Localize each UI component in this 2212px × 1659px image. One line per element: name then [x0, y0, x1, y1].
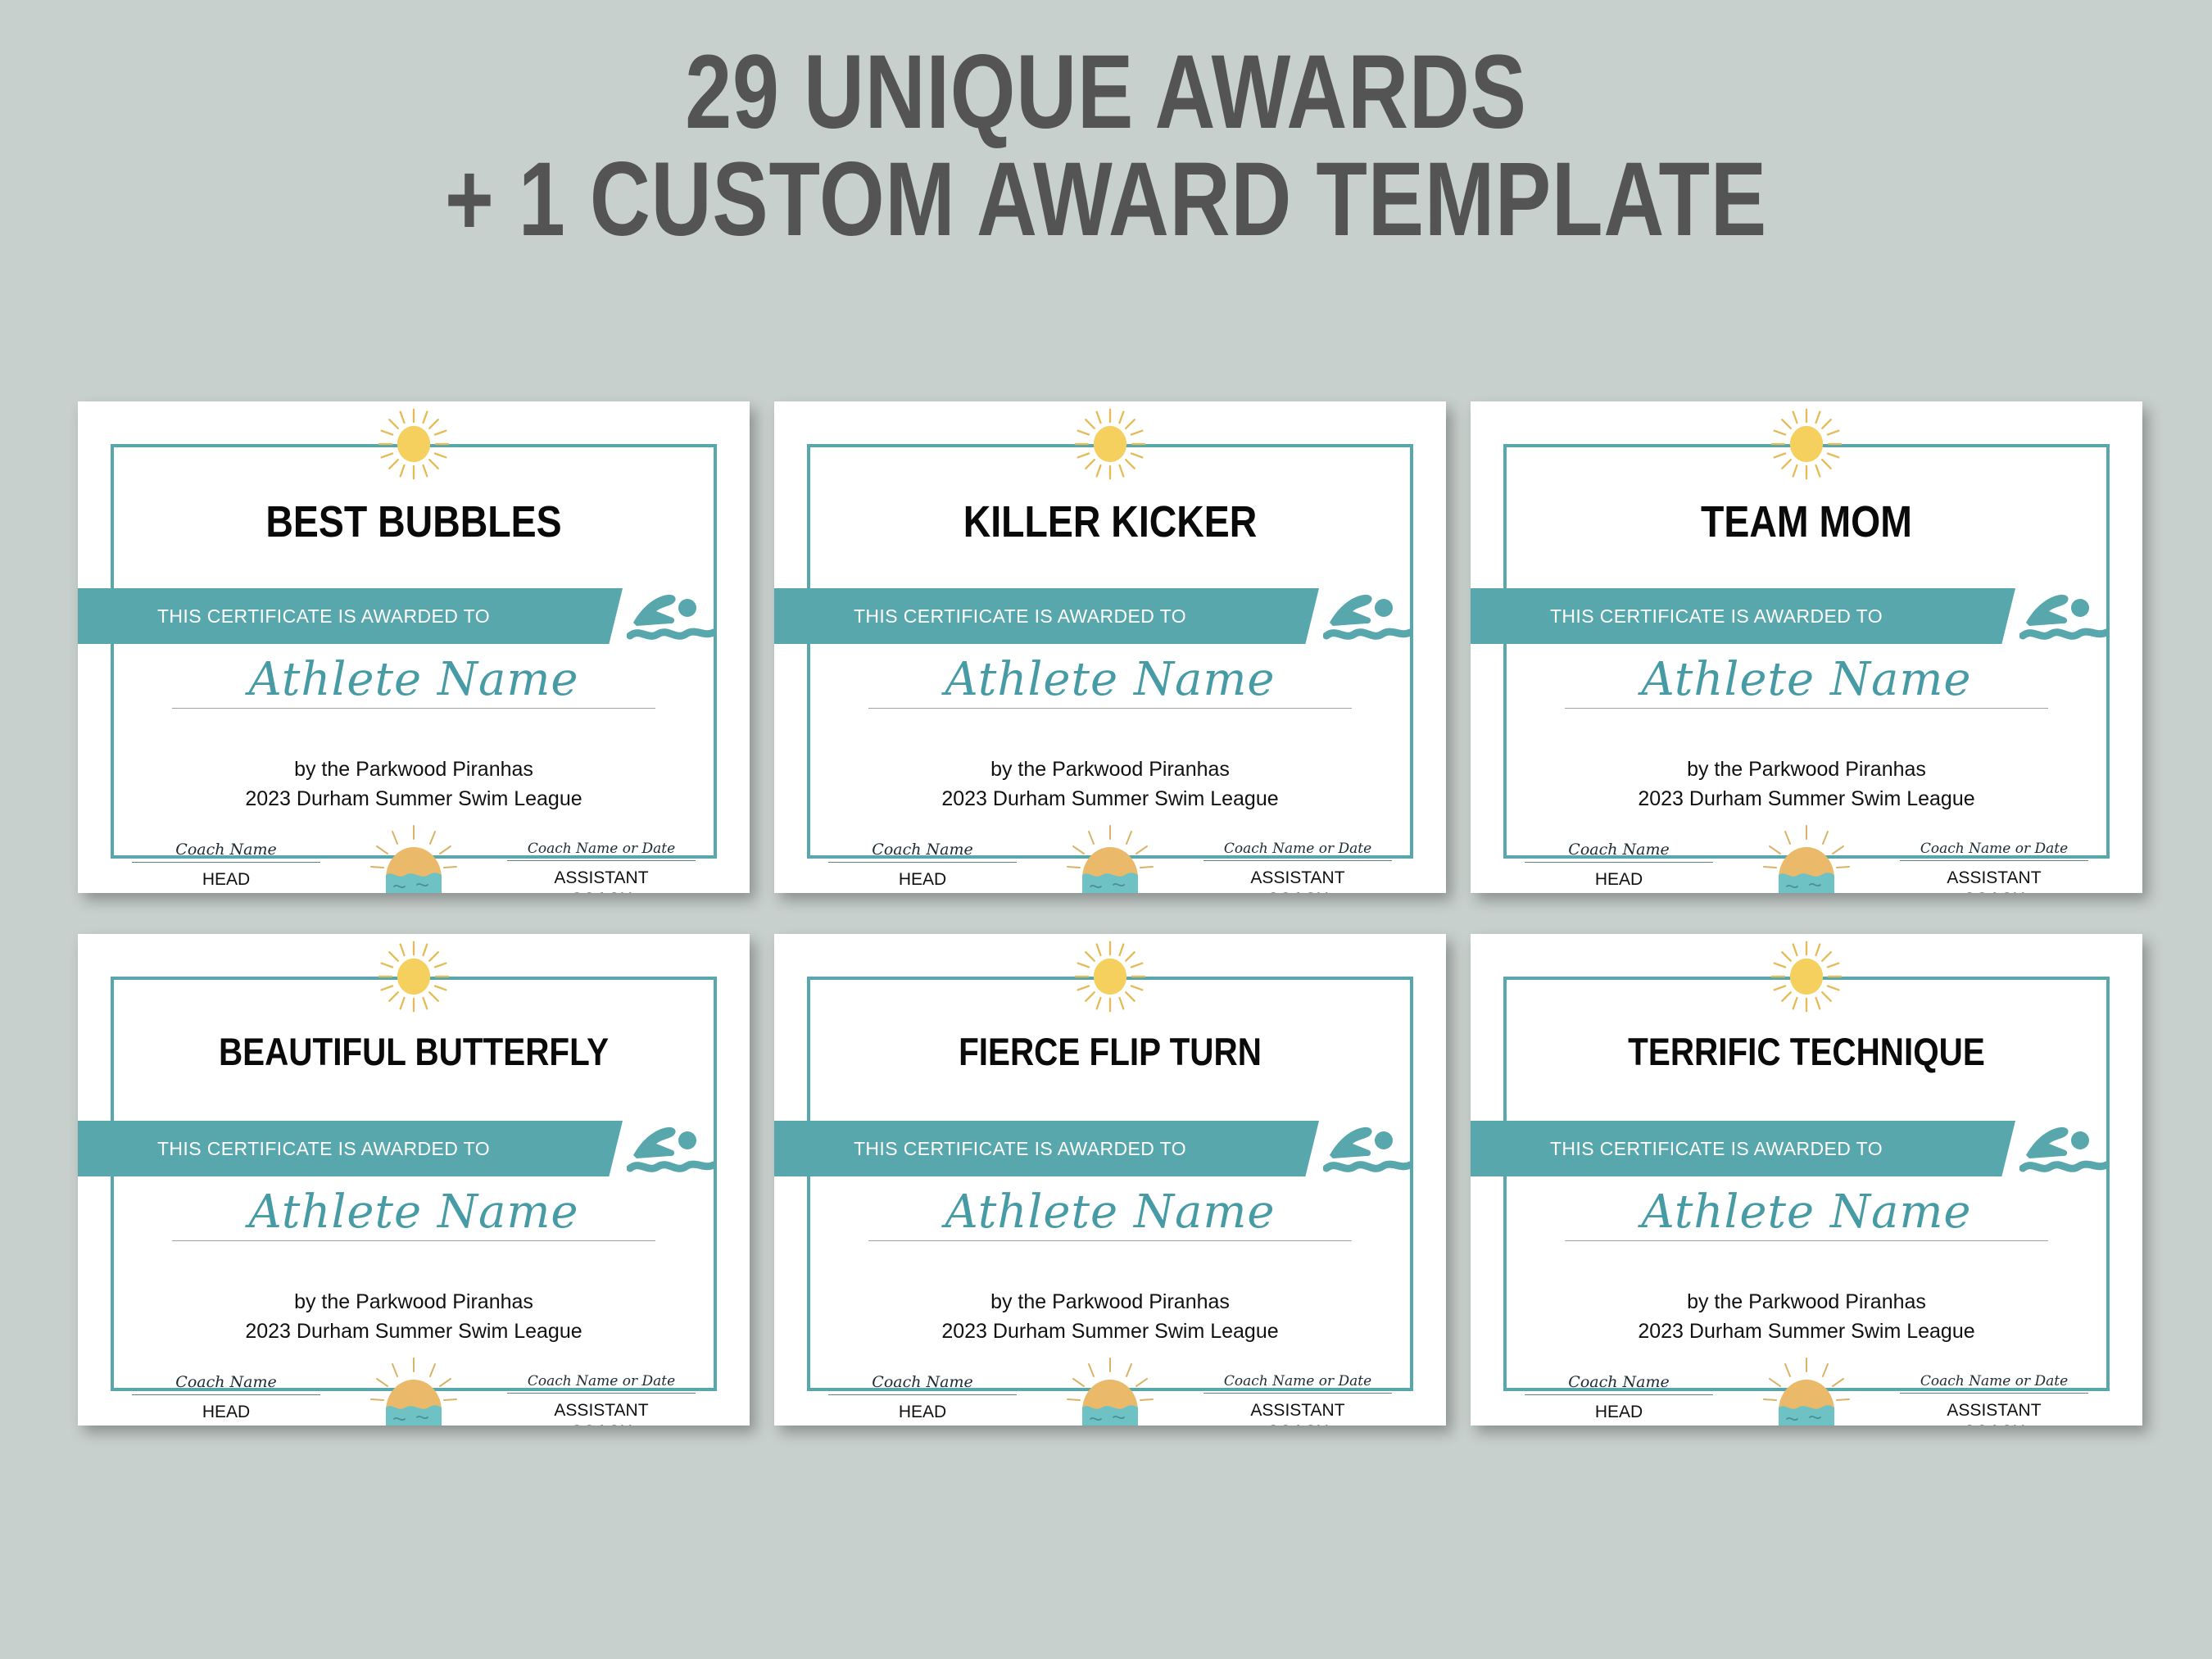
certificate-card-6[interactable]: TERRIFIC TECHNIQUE THIS CERTIFICATE IS A…	[1471, 934, 2142, 1426]
assistant-coach-signature[interactable]: Coach Name or Date ASSISTANT COACH	[1900, 1368, 2088, 1426]
assistant-coach-rule	[1203, 1393, 1392, 1394]
assistant-coach-signature[interactable]: Coach Name or Date ASSISTANT COACH	[1203, 1368, 1392, 1426]
head-coach-script-label: Coach Name	[1525, 1375, 1713, 1394]
swimmer-icon	[627, 1119, 717, 1181]
head-coach-role-line-1: HEAD	[828, 1402, 1017, 1423]
signature-area: Coach Name HEAD COACH	[132, 836, 696, 893]
sun-water-logo-icon	[1064, 1357, 1156, 1426]
headline-line-2: + 1 CUSTOM AWARD TEMPLATE	[221, 147, 1991, 254]
athlete-name-text: Athlete Name	[1565, 1190, 2048, 1240]
swimmer-icon	[2019, 587, 2110, 649]
sun-icon	[374, 937, 453, 1016]
assistant-coach-rule	[507, 860, 696, 861]
head-coach-rule	[828, 862, 1017, 863]
athlete-name-rule	[868, 708, 1352, 709]
signature-area: Coach Name HEAD COACH	[1525, 836, 2088, 893]
sun-icon	[374, 405, 453, 483]
sun-icon	[1767, 405, 1846, 483]
assistant-coach-role: ASSISTANT COACH	[1900, 1400, 2088, 1426]
head-coach-signature[interactable]: Coach Name HEAD COACH	[132, 1368, 320, 1426]
head-coach-role-line-1: HEAD	[132, 1402, 320, 1423]
assistant-coach-role-line-2: COACH	[507, 889, 696, 893]
head-coach-role-line-1: HEAD	[132, 869, 320, 891]
head-coach-script-label: Coach Name	[828, 1375, 1017, 1394]
athlete-name-field[interactable]: Athlete Name	[172, 657, 655, 709]
assistant-coach-role-line-2: COACH	[1900, 1421, 2088, 1426]
sun-water-logo-icon	[368, 1357, 460, 1426]
awarded-banner-label: THIS CERTIFICATE IS AWARDED TO	[78, 1121, 569, 1176]
athlete-name-field[interactable]: Athlete Name	[868, 1190, 1352, 1241]
certificate-body: by the Parkwood Piranhas 2023 Durham Sum…	[823, 755, 1397, 814]
assistant-coach-script-label: Coach Name or Date	[507, 1375, 696, 1393]
head-coach-role: HEAD COACH	[132, 1402, 320, 1426]
awarded-banner-label: THIS CERTIFICATE IS AWARDED TO	[774, 1121, 1266, 1176]
swimmer-icon	[1323, 587, 1413, 649]
poster-canvas: 29 UNIQUE AWARDS + 1 CUSTOM AWARD TEMPLA…	[0, 0, 2212, 1659]
sun-water-logo-icon	[368, 824, 460, 893]
page-headline: 29 UNIQUE AWARDS + 1 CUSTOM AWARD TEMPLA…	[221, 39, 1991, 253]
head-coach-role: HEAD COACH	[132, 869, 320, 893]
swimmer-icon	[1323, 1119, 1413, 1181]
assistant-coach-role: ASSISTANT COACH	[507, 868, 696, 893]
team-logo	[1061, 1368, 1159, 1426]
certificate-card-3[interactable]: TEAM MOM THIS CERTIFICATE IS AWARDED TO …	[1471, 401, 2142, 893]
head-coach-script-label: Coach Name	[1525, 842, 1713, 862]
assistant-coach-script-label: Coach Name or Date	[1900, 1375, 2088, 1393]
athlete-name-rule	[172, 1240, 655, 1241]
head-coach-role-line-1: HEAD	[1525, 1402, 1713, 1423]
head-coach-signature[interactable]: Coach Name HEAD COACH	[1525, 836, 1713, 893]
head-coach-role-line-2: COACH	[132, 1423, 320, 1426]
assistant-coach-role-line-2: COACH	[1900, 889, 2088, 893]
sun-water-logo-icon	[1761, 824, 1852, 893]
head-coach-role-line-2: COACH	[828, 1423, 1017, 1426]
team-logo	[1757, 836, 1856, 893]
head-coach-rule	[1525, 1394, 1713, 1395]
body-line-2: 2023 Durham Summer Swim League	[823, 1317, 1397, 1347]
head-coach-role-line-1: HEAD	[1525, 869, 1713, 891]
athlete-name-text: Athlete Name	[1565, 657, 2048, 708]
assistant-coach-rule	[1203, 860, 1392, 861]
certificate-grid: BEST BUBBLES THIS CERTIFICATE IS AWARDED…	[78, 401, 2142, 1442]
athlete-name-text: Athlete Name	[868, 657, 1352, 708]
swimmer-icon	[2019, 1119, 2110, 1181]
body-line-1: by the Parkwood Piranhas	[1520, 755, 2093, 785]
team-logo	[365, 836, 463, 893]
assistant-coach-script-label: Coach Name or Date	[1203, 1375, 1392, 1393]
head-coach-role-line-2: COACH	[828, 891, 1017, 893]
team-logo	[365, 1368, 463, 1426]
certificate-title: TERRIFIC TECHNIQUE	[1560, 1032, 2053, 1071]
athlete-name-text: Athlete Name	[868, 1190, 1352, 1240]
signature-area: Coach Name HEAD COACH	[1525, 1368, 2088, 1426]
signature-area: Coach Name HEAD COACH	[132, 1368, 696, 1426]
head-coach-role-line-2: COACH	[1525, 891, 1713, 893]
sun-icon	[1071, 405, 1149, 483]
head-coach-script-label: Coach Name	[132, 1375, 320, 1394]
body-line-2: 2023 Durham Summer Swim League	[127, 1317, 700, 1347]
certificate-card-2[interactable]: KILLER KICKER THIS CERTIFICATE IS AWARDE…	[774, 401, 1446, 893]
athlete-name-text: Athlete Name	[172, 657, 655, 708]
assistant-coach-role: ASSISTANT COACH	[1203, 1400, 1392, 1426]
assistant-coach-rule	[1900, 860, 2088, 861]
athlete-name-field[interactable]: Athlete Name	[868, 657, 1352, 709]
team-logo	[1061, 836, 1159, 893]
body-line-2: 2023 Durham Summer Swim League	[127, 785, 700, 814]
body-line-1: by the Parkwood Piranhas	[127, 755, 700, 785]
assistant-coach-role: ASSISTANT COACH	[1900, 868, 2088, 893]
head-coach-role-line-2: COACH	[132, 891, 320, 893]
body-line-2: 2023 Durham Summer Swim League	[1520, 785, 2093, 814]
assistant-coach-rule	[1900, 1393, 2088, 1394]
assistant-coach-role-line-2: COACH	[1203, 1421, 1392, 1426]
signature-area: Coach Name HEAD COACH	[828, 1368, 1392, 1426]
sun-water-logo-icon	[1064, 824, 1156, 893]
team-logo	[1757, 1368, 1856, 1426]
body-line-1: by the Parkwood Piranhas	[127, 1288, 700, 1317]
body-line-2: 2023 Durham Summer Swim League	[1520, 1317, 2093, 1347]
head-coach-role: HEAD COACH	[828, 869, 1017, 893]
certificate-body: by the Parkwood Piranhas 2023 Durham Sum…	[1520, 755, 2093, 814]
certificate-title: TEAM MOM	[1560, 500, 2053, 544]
assistant-coach-role-line-1: ASSISTANT	[507, 868, 696, 889]
athlete-name-text: Athlete Name	[172, 1190, 655, 1240]
sun-icon	[1767, 937, 1846, 1016]
assistant-coach-signature[interactable]: Coach Name or Date ASSISTANT COACH	[507, 1368, 696, 1426]
assistant-coach-role-line-1: ASSISTANT	[1900, 1400, 2088, 1421]
assistant-coach-role-line-1: ASSISTANT	[507, 1400, 696, 1421]
assistant-coach-role: ASSISTANT COACH	[507, 1400, 696, 1426]
head-coach-role-line-1: HEAD	[828, 869, 1017, 891]
assistant-coach-role-line-1: ASSISTANT	[1203, 868, 1392, 889]
body-line-1: by the Parkwood Piranhas	[823, 755, 1397, 785]
head-coach-signature[interactable]: Coach Name HEAD COACH	[828, 836, 1017, 893]
athlete-name-rule	[1565, 1240, 2048, 1241]
certificate-title: FIERCE FLIP TURN	[863, 1032, 1357, 1071]
sun-water-logo-icon	[1761, 1357, 1852, 1426]
assistant-coach-role-line-1: ASSISTANT	[1900, 868, 2088, 889]
head-coach-signature[interactable]: Coach Name HEAD COACH	[1525, 1368, 1713, 1426]
head-coach-rule	[132, 862, 320, 863]
athlete-name-rule	[868, 1240, 1352, 1241]
signature-area: Coach Name HEAD COACH	[828, 836, 1392, 893]
certificate-title: KILLER KICKER	[863, 500, 1357, 544]
certificate-body: by the Parkwood Piranhas 2023 Durham Sum…	[1520, 1288, 2093, 1346]
certificate-title: BEST BUBBLES	[167, 500, 660, 544]
certificate-body: by the Parkwood Piranhas 2023 Durham Sum…	[823, 1288, 1397, 1346]
assistant-coach-script-label: Coach Name or Date	[507, 842, 696, 860]
swimmer-icon	[627, 587, 717, 649]
athlete-name-field[interactable]: Athlete Name	[1565, 1190, 2048, 1241]
certificate-body: by the Parkwood Piranhas 2023 Durham Sum…	[127, 1288, 700, 1346]
certificate-title: BEAUTIFUL BUTTERFLY	[167, 1032, 660, 1071]
body-line-1: by the Parkwood Piranhas	[1520, 1288, 2093, 1317]
athlete-name-field[interactable]: Athlete Name	[172, 1190, 655, 1241]
assistant-coach-script-label: Coach Name or Date	[1900, 842, 2088, 860]
certificate-card-4[interactable]: BEAUTIFUL BUTTERFLY THIS CERTIFICATE IS …	[78, 934, 750, 1426]
assistant-coach-role: ASSISTANT COACH	[1203, 868, 1392, 893]
assistant-coach-role-line-2: COACH	[507, 1421, 696, 1426]
sun-icon	[1071, 937, 1149, 1016]
head-coach-rule	[828, 1394, 1017, 1395]
head-coach-script-label: Coach Name	[132, 842, 320, 862]
body-line-2: 2023 Durham Summer Swim League	[823, 785, 1397, 814]
assistant-coach-signature[interactable]: Coach Name or Date ASSISTANT COACH	[1203, 836, 1392, 893]
assistant-coach-role-line-1: ASSISTANT	[1203, 1400, 1392, 1421]
head-coach-signature[interactable]: Coach Name HEAD COACH	[828, 1368, 1017, 1426]
head-coach-signature[interactable]: Coach Name HEAD COACH	[132, 836, 320, 893]
awarded-banner-label: THIS CERTIFICATE IS AWARDED TO	[1471, 1121, 1962, 1176]
certificate-body: by the Parkwood Piranhas 2023 Durham Sum…	[127, 755, 700, 814]
head-coach-role: HEAD COACH	[1525, 869, 1713, 893]
athlete-name-field[interactable]: Athlete Name	[1565, 657, 2048, 709]
head-coach-rule	[1525, 862, 1713, 863]
head-coach-role: HEAD COACH	[1525, 1402, 1713, 1426]
awarded-banner-label: THIS CERTIFICATE IS AWARDED TO	[1471, 588, 1962, 644]
athlete-name-rule	[1565, 708, 2048, 709]
headline-line-1: 29 UNIQUE AWARDS	[221, 39, 1991, 147]
head-coach-script-label: Coach Name	[828, 842, 1017, 862]
athlete-name-rule	[172, 708, 655, 709]
awarded-banner-label: THIS CERTIFICATE IS AWARDED TO	[774, 588, 1266, 644]
head-coach-role-line-2: COACH	[1525, 1423, 1713, 1426]
head-coach-role: HEAD COACH	[828, 1402, 1017, 1426]
certificate-card-1[interactable]: BEST BUBBLES THIS CERTIFICATE IS AWARDED…	[78, 401, 750, 893]
assistant-coach-script-label: Coach Name or Date	[1203, 842, 1392, 860]
assistant-coach-signature[interactable]: Coach Name or Date ASSISTANT COACH	[507, 836, 696, 893]
assistant-coach-role-line-2: COACH	[1203, 889, 1392, 893]
body-line-1: by the Parkwood Piranhas	[823, 1288, 1397, 1317]
assistant-coach-signature[interactable]: Coach Name or Date ASSISTANT COACH	[1900, 836, 2088, 893]
awarded-banner-label: THIS CERTIFICATE IS AWARDED TO	[78, 588, 569, 644]
certificate-card-5[interactable]: FIERCE FLIP TURN THIS CERTIFICATE IS AWA…	[774, 934, 1446, 1426]
head-coach-rule	[132, 1394, 320, 1395]
assistant-coach-rule	[507, 1393, 696, 1394]
